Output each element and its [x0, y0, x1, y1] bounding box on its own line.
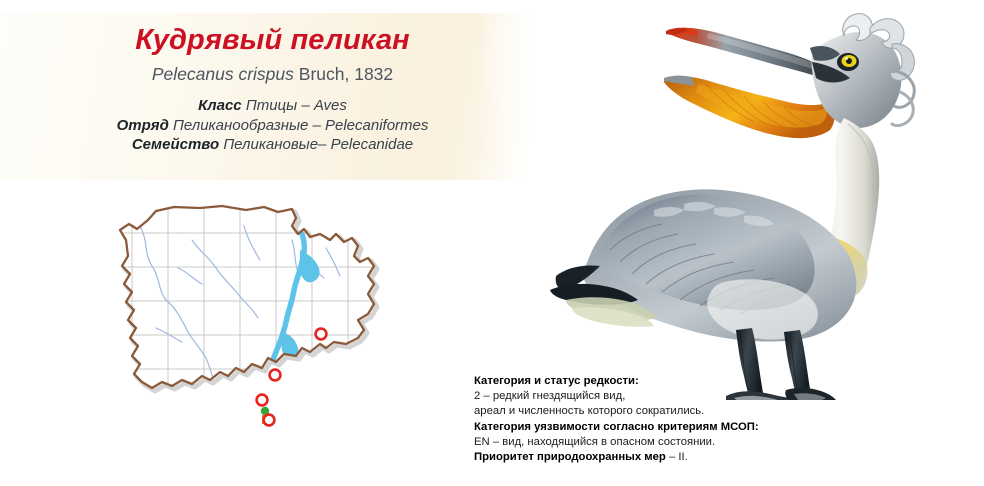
rarity-line-1: 2 – редкий гнездящийся вид,	[474, 389, 904, 404]
taxonomy-value-family: Пеликановые– Pelecanidae	[223, 136, 413, 153]
species-card-page: Кудрявый пеликан Pelecanus crispus Bruch…	[0, 0, 984, 486]
iucn-heading: Категория уязвимости согласно критериям …	[474, 420, 904, 435]
scientific-name: Pelecanus crispus Bruch, 1832	[152, 65, 393, 84]
priority-row: Приоритет природоохранных мер – II.	[474, 450, 904, 465]
occurrence-point-4	[264, 415, 275, 426]
taxonomy-value-order: Пеликанообразные – Pelecaniformes	[173, 117, 428, 134]
rarity-line-2: ареал и численность которого сократились…	[474, 404, 904, 419]
occurrence-point-2	[270, 370, 281, 381]
pelican-body	[550, 189, 856, 341]
pelican-eye	[837, 53, 859, 71]
dalmatian-pelican-illustration	[548, 0, 984, 400]
scientific-name-binomial: Pelecanus crispus	[152, 64, 294, 84]
pelican-pouch	[664, 76, 835, 138]
taxonomy-label-family: Семейство	[132, 136, 219, 153]
header-text-block: Кудрявый пеликан Pelecanus crispus Bruch…	[0, 13, 545, 180]
taxonomy-row-family: Семейство Пеликановые– Pelecanidae	[117, 135, 429, 155]
page-title: Кудрявый пеликан	[135, 25, 410, 56]
occurrence-point-1	[316, 329, 327, 340]
taxonomy-list: Класс Птицы – Aves Отряд Пеликанообразны…	[117, 96, 429, 156]
distribution-map	[96, 196, 396, 474]
scientific-name-authority: Bruch, 1832	[299, 64, 393, 84]
iucn-value: EN – вид, находящийся в опасном состояни…	[474, 435, 904, 450]
taxonomy-label-class: Класс	[198, 97, 242, 114]
conservation-status-block: Категория и статус редкости: 2 – редкий …	[474, 374, 904, 465]
taxonomy-value-class: Птицы – Aves	[246, 97, 347, 114]
occurrence-point-3	[257, 395, 268, 406]
pelican-upper-bill	[666, 28, 820, 76]
distribution-map-svg	[96, 196, 396, 474]
rarity-heading: Категория и статус редкости:	[474, 374, 904, 389]
taxonomy-row-class: Класс Птицы – Aves	[117, 96, 429, 116]
priority-label: Приоритет природоохранных мер	[474, 451, 666, 463]
pelican-svg	[548, 0, 984, 400]
priority-value: – II.	[669, 451, 688, 463]
taxonomy-row-order: Отряд Пеликанообразные – Pelecaniformes	[117, 116, 429, 136]
taxonomy-label-order: Отряд	[117, 117, 169, 134]
